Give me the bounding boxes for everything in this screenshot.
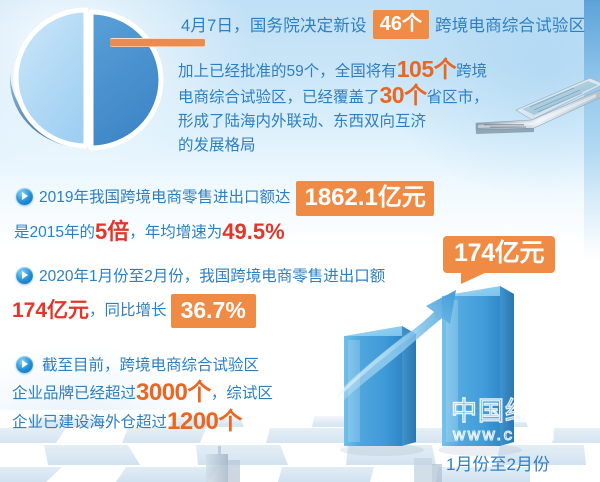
bullet-3-line3-text-a: 企业已建设海外仓超过 bbox=[12, 414, 167, 431]
pie-chart bbox=[2, 2, 170, 167]
intro-paragraph: 加上已经批准的59个，全国将有105个跨境 电商综合试验区，已经覆盖了30个省区… bbox=[178, 58, 508, 158]
bullet-2-line2-text-b: ，同比增长 bbox=[89, 302, 167, 319]
bullet-3-brand-count: 3000个 bbox=[136, 379, 211, 406]
bullet-2-growth-chip: 36.7% bbox=[171, 294, 256, 328]
intro-line2-highlight: 30个 bbox=[380, 82, 427, 108]
pie-callout-connector-line bbox=[110, 38, 205, 47]
bullet-1-multiple: 5倍 bbox=[95, 219, 129, 244]
bullet-item-3: 截至目前，跨境电商综合试验区 企业品牌已经超过3000个，综试区 企业已建设海外… bbox=[16, 355, 273, 435]
bullet-3-line1-text: 截至目前，跨境电商综合试验区 bbox=[42, 357, 259, 374]
infographic-canvas: 4月7日，国务院决定新设 46个 跨境电商综合试验区 加上已经批准的59个，全国… bbox=[0, 0, 600, 482]
laptop-illustration bbox=[470, 76, 600, 148]
play-circle-icon bbox=[16, 188, 33, 205]
bullet-3-warehouse-count: 1200个 bbox=[167, 408, 242, 435]
bullet-1-line2-text-c: ，年均增速为 bbox=[129, 224, 222, 241]
bullet-3-line-1: 截至目前，跨境电商综合试验区 bbox=[16, 355, 273, 377]
intro-line2-text-a: 电商综合试验区，已经覆盖了 bbox=[178, 89, 380, 106]
bullet-2-amount: 174亿元 bbox=[12, 299, 89, 322]
chart-x-axis-label: 1月份至2月份 bbox=[446, 450, 550, 475]
intro-line1-text-a: 加上已经批准的59个，全国将有 bbox=[178, 63, 397, 80]
bullet-1-line1-text: 2019年我国跨境电商零售进出口额达 bbox=[39, 189, 290, 206]
headline: 4月7日，国务院决定新设 46个 跨境电商综合试验区 bbox=[181, 9, 593, 39]
bullet-3-line-2: 企业品牌已经超过3000个，综试区 bbox=[12, 381, 273, 406]
bullet-1-value-chip: 1862.1亿元 bbox=[296, 181, 433, 216]
building-silhouette-left bbox=[196, 440, 248, 482]
bullet-1-line2-text-a: 是2015年的 bbox=[14, 224, 95, 241]
headline-suffix: 跨境电商综合试验区 bbox=[435, 12, 585, 36]
intro-line-4: 的发展格局 bbox=[178, 134, 508, 158]
bullet-3-line2-text-c: ，综试区 bbox=[211, 385, 273, 402]
chart-value-callout: 174亿元 bbox=[443, 236, 555, 273]
intro-line1-highlight: 105个 bbox=[397, 56, 456, 82]
bullet-1-line-1: 2019年我国跨境电商零售进出口额达1862.1亿元 bbox=[16, 181, 434, 216]
play-circle-icon bbox=[16, 267, 33, 284]
play-circle-icon bbox=[16, 356, 33, 373]
intro-line-2: 电商综合试验区，已经覆盖了30个省区市， bbox=[178, 84, 508, 110]
bar-2 bbox=[442, 286, 514, 446]
bullet-1-growth-rate: 49.5% bbox=[222, 219, 284, 244]
intro-line-3: 形成了陆海内外联动、东西双向互济 bbox=[178, 110, 508, 134]
bullet-3-line-3: 企业已建设海外仓超过1200个 bbox=[12, 410, 273, 435]
bullet-3-line2-text-a: 企业品牌已经超过 bbox=[12, 385, 136, 402]
intro-line-1: 加上已经批准的59个，全国将有105个跨境 bbox=[178, 58, 508, 84]
headline-prefix: 4月7日，国务院决定新设 bbox=[181, 12, 367, 36]
headline-highlight-chip: 46个 bbox=[373, 10, 429, 39]
